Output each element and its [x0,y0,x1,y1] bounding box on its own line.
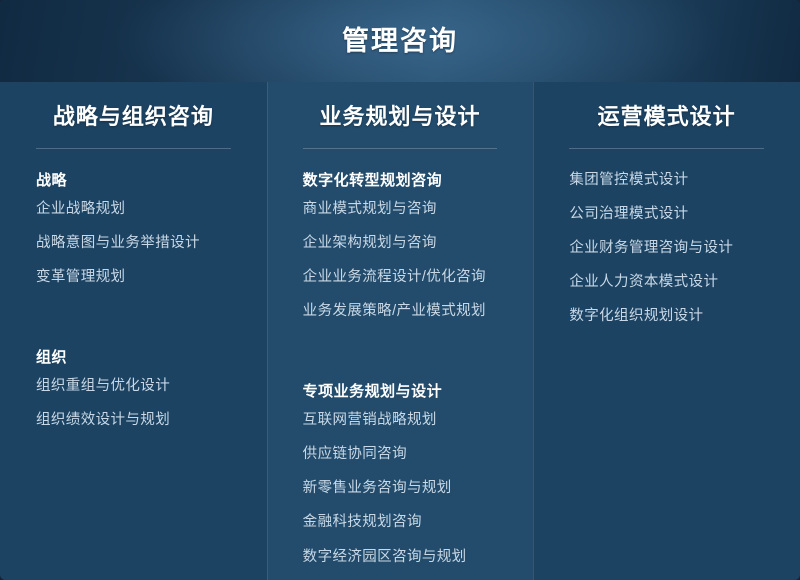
list-item[interactable]: 组织绩效设计与规划 [36,411,233,431]
list-item[interactable]: 互联网营销战略规划 [303,411,500,431]
list-item[interactable]: 变革管理规划 [36,268,233,288]
column-divider [569,148,764,149]
group-title: 数字化转型规划咨询 [303,171,500,191]
service-list: 组织重组与优化设计 组织绩效设计与规划 [34,377,233,431]
group-title: 专项业务规划与设计 [303,382,500,402]
group-organization: 组织 组织重组与优化设计 组织绩效设计与规划 [34,348,233,431]
service-list: 企业战略规划 战略意图与业务举措设计 变革管理规划 [34,200,233,288]
service-list: 互联网营销战略规划 供应链协同咨询 新零售业务咨询与规划 金融科技规划咨询 数字… [301,411,500,580]
list-item[interactable]: 战略意图与业务举措设计 [36,234,233,254]
list-item[interactable]: 数字化组织规划设计 [569,307,766,327]
list-item[interactable]: 供应链协同咨询 [303,445,500,465]
list-item[interactable]: 金融科技规划咨询 [303,513,500,533]
service-list: 集团管控模式设计 公司治理模式设计 企业财务管理咨询与设计 企业人力资本模式设计… [567,171,766,327]
column-operating-model-design: 运营模式设计 集团管控模式设计 公司治理模式设计 企业财务管理咨询与设计 企业人… [533,82,800,580]
group-operating-model: 集团管控模式设计 公司治理模式设计 企业财务管理咨询与设计 企业人力资本模式设计… [567,171,766,327]
service-list: 商业模式规划与咨询 企业架构规划与咨询 企业业务流程设计/优化咨询 业务发展策略… [301,200,500,322]
page-title: 管理咨询 [342,28,458,55]
columns-container: 战略与组织咨询 战略 企业战略规划 战略意图与业务举措设计 变革管理规划 组织 … [0,82,800,580]
list-item[interactable]: 新零售业务咨询与规划 [303,479,500,499]
column-title: 业务规划与设计 [301,103,500,131]
list-item[interactable]: 数字经济园区咨询与规划 [303,548,500,568]
list-item[interactable]: 业务发展策略/产业模式规划 [303,302,500,322]
column-strategy-organization: 战略与组织咨询 战略 企业战略规划 战略意图与业务举措设计 变革管理规划 组织 … [0,82,267,580]
list-item[interactable]: 组织重组与优化设计 [36,377,233,397]
column-divider [303,148,498,149]
list-item[interactable]: 公司治理模式设计 [569,205,766,225]
column-divider [36,148,231,149]
group-title: 组织 [36,348,233,368]
group-specialized-business: 专项业务规划与设计 互联网营销战略规划 供应链协同咨询 新零售业务咨询与规划 金… [301,382,500,580]
group-strategy: 战略 企业战略规划 战略意图与业务举措设计 变革管理规划 [34,171,233,288]
panel-header: 管理咨询 [0,0,800,82]
list-item[interactable]: 企业架构规划与咨询 [303,234,500,254]
list-item[interactable]: 商业模式规划与咨询 [303,200,500,220]
group-digital-transformation: 数字化转型规划咨询 商业模式规划与咨询 企业架构规划与咨询 企业业务流程设计/优… [301,171,500,322]
column-business-planning-design: 业务规划与设计 数字化转型规划咨询 商业模式规划与咨询 企业架构规划与咨询 企业… [267,82,534,580]
group-title: 战略 [36,171,233,191]
management-consulting-panel: 管理咨询 战略与组织咨询 战略 企业战略规划 战略意图与业务举措设计 变革管理规… [0,0,800,580]
list-item[interactable]: 企业人力资本模式设计 [569,273,766,293]
list-item[interactable]: 企业战略规划 [36,200,233,220]
list-item[interactable]: 集团管控模式设计 [569,171,766,191]
list-item[interactable]: 企业财务管理咨询与设计 [569,239,766,259]
column-title: 运营模式设计 [567,103,766,131]
column-title: 战略与组织咨询 [34,103,233,131]
list-item[interactable]: 企业业务流程设计/优化咨询 [303,268,500,288]
